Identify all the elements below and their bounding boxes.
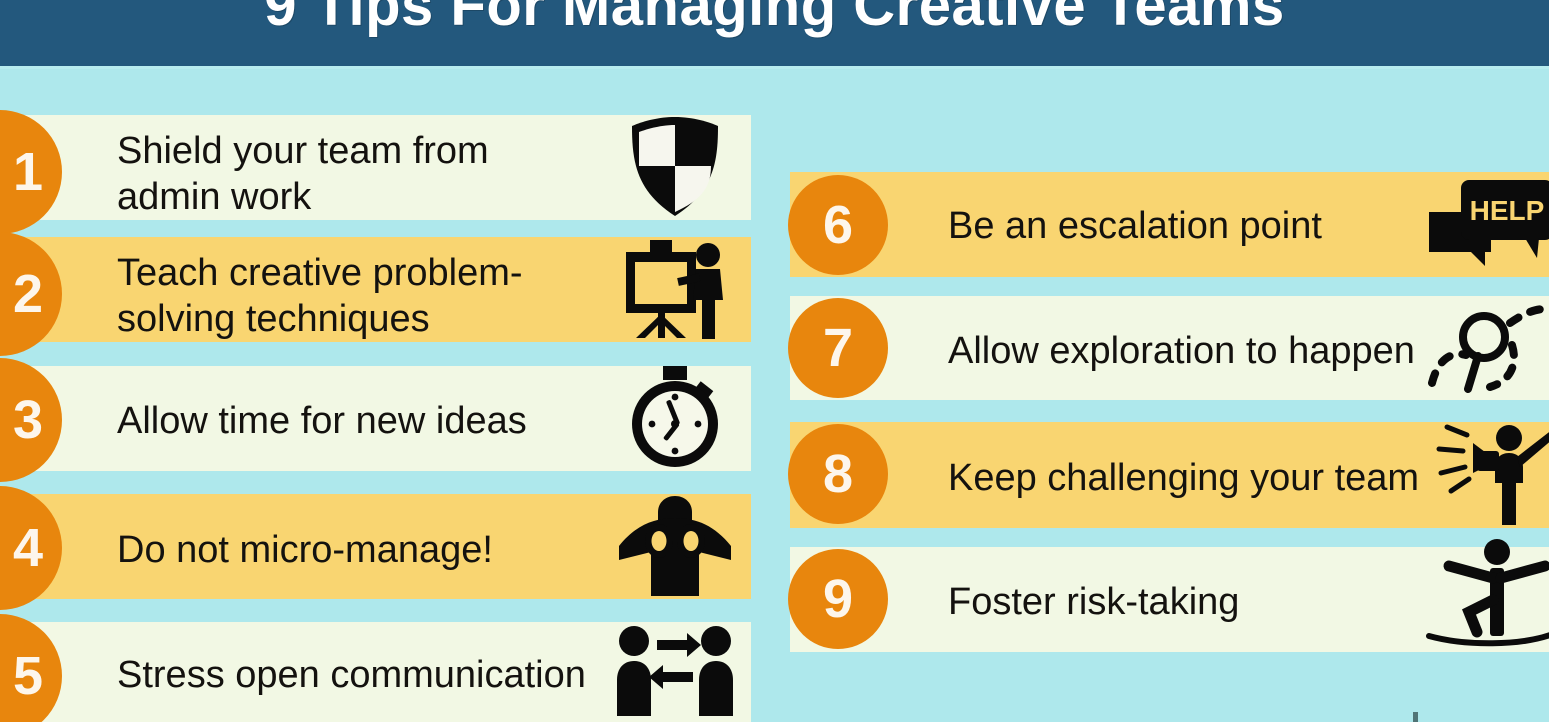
infographic-slide: 9 Tips For Managing Creative Teams 1 2 3… <box>0 0 1549 722</box>
tip-label-3: Allow time for new ideas <box>117 398 527 444</box>
tightrope-walker-icon <box>1420 535 1549 653</box>
binoculars-person-icon <box>600 492 750 600</box>
help-speech-bubble-icon: HELP <box>1420 177 1549 275</box>
megaphone-person-icon <box>1420 420 1549 528</box>
title-underline <box>0 66 1549 69</box>
tip-label-9: Foster risk-taking <box>948 579 1239 625</box>
presenter-whiteboard-icon <box>600 237 750 343</box>
tip-label-2: Teach creative problem- solving techniqu… <box>117 250 523 342</box>
stray-artifact-mark <box>1413 712 1418 722</box>
tip-label-6: Be an escalation point <box>948 203 1322 249</box>
tip-label-8: Keep challenging your team <box>948 455 1419 501</box>
tip-number-badge-6: 6 <box>788 175 888 275</box>
tip-label-4: Do not micro-manage! <box>117 527 493 573</box>
shield-icon <box>600 113 750 221</box>
magnifier-dashed-path-icon <box>1420 300 1549 398</box>
tip-number-badge-7: 7 <box>788 298 888 398</box>
tip-label-5: Stress open communication <box>117 652 586 698</box>
help-icon-text: HELP <box>1470 195 1545 226</box>
tip-number-badge-9: 9 <box>788 549 888 649</box>
page-title: 9 Tips For Managing Creative Teams <box>264 0 1284 66</box>
tip-label-7: Allow exploration to happen <box>948 328 1415 374</box>
slide-title-bar: 9 Tips For Managing Creative Teams <box>0 0 1549 66</box>
tip-label-1: Shield your team from admin work <box>117 128 489 220</box>
two-people-exchange-icon <box>600 620 750 720</box>
tip-number-badge-8: 8 <box>788 424 888 524</box>
stopwatch-icon <box>600 364 750 472</box>
